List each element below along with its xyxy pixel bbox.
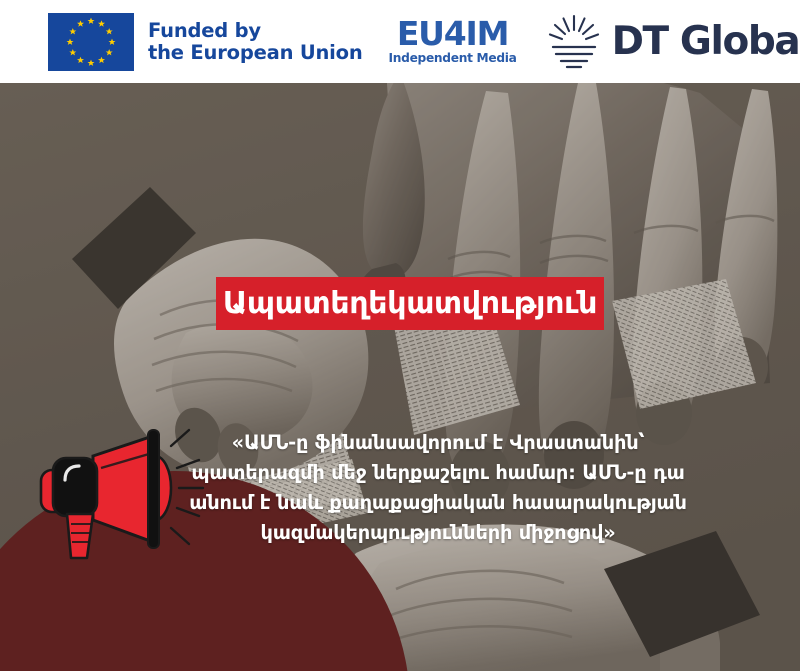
funded-by-text: Funded by the European Union <box>148 20 363 64</box>
photo-stage: Ապատեղեկատվություն «ԱՄՆ-ը ֆինանսավորում … <box>0 83 800 671</box>
eu4im-logo: EU4IM Independent Media <box>389 18 517 65</box>
sunburst-icon <box>545 14 603 70</box>
eu4im-tagline: Independent Media <box>389 51 517 65</box>
disinformation-social-card: Funded by the European Union EU4IM Indep… <box>0 0 800 671</box>
funded-by-line-1: Funded by <box>148 20 363 42</box>
dt-global-wordmark: DT Global <box>612 22 800 62</box>
quote-line-4: կազմակերպությունների միջոցով» <box>182 518 694 548</box>
eu4im-wordmark: EU4IM <box>397 18 508 50</box>
eu-stars-svg <box>48 13 134 71</box>
quote-line-1: «ԱՄՆ-ը ֆինանսավորում է Վրաստանին՝ <box>182 428 694 458</box>
dt-global-logo: DT Global <box>545 14 800 70</box>
title-banner: Ապատեղեկատվություն <box>216 277 604 330</box>
quote-block: «ԱՄՆ-ը ֆինանսավորում է Վրաստանին՝ պատերա… <box>182 428 694 548</box>
quote-line-3: անում է նաև քաղաքացիական հասարակության <box>182 488 694 518</box>
quote-line-2: պատերազմի մեջ ներքաշելու համար: ԱՄՆ-ը դա <box>182 458 694 488</box>
megaphone-icon <box>27 424 207 574</box>
banner-title-text: Ապատեղեկատվություն <box>223 287 597 321</box>
donor-logo-header: Funded by the European Union EU4IM Indep… <box>0 0 800 83</box>
eu-flag-icon <box>48 13 134 71</box>
logo-row: Funded by the European Union EU4IM Indep… <box>0 13 800 71</box>
funded-by-line-2: the European Union <box>148 42 363 64</box>
